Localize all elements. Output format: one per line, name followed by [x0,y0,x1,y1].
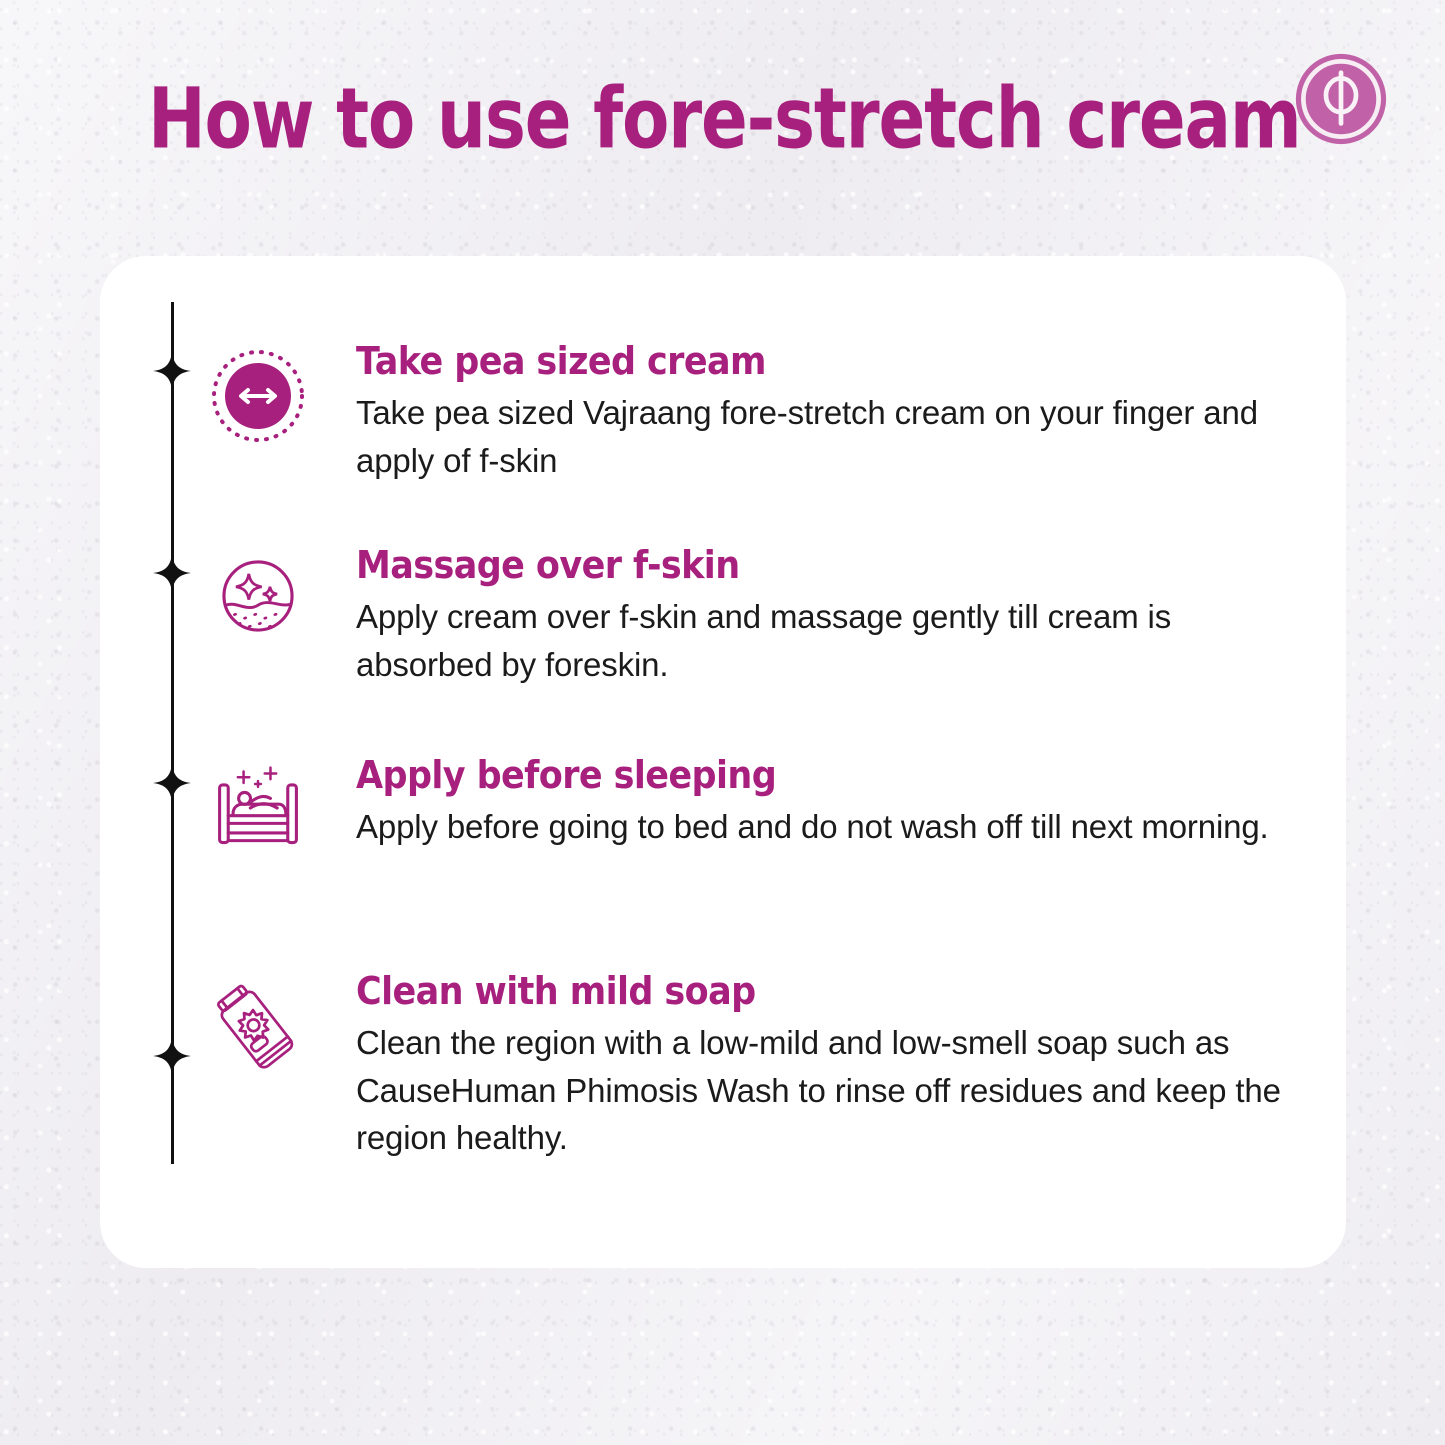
cream-tube-icon [208,972,308,1076]
massage-skin-sparkle-icon [208,546,308,650]
bed-sleeping-icon [208,756,308,860]
step-item: Take pea sized cream Take pea sized Vajr… [208,342,1316,484]
step-body: Take pea sized Vajraang fore-stretch cre… [356,389,1316,484]
step-item: Apply before sleeping Apply before going… [208,756,1316,860]
step-text: Massage over f-skin Apply cream over f-s… [308,546,1316,688]
step-body: Apply cream over f-skin and massage gent… [356,593,1316,688]
phi-logo [1294,52,1388,146]
page-title: How to use fore-stretch cream [148,78,1301,162]
step-text: Clean with mild soap Clean the region wi… [308,972,1316,1162]
step-item: Massage over f-skin Apply cream over f-s… [208,546,1316,688]
step-text: Take pea sized cream Take pea sized Vajr… [308,342,1316,484]
step-body: Apply before going to bed and do not was… [356,803,1316,851]
step-title: Apply before sleeping [356,756,1316,797]
step-item: Clean with mild soap Clean the region wi… [208,972,1316,1162]
step-title: Massage over f-skin [356,546,1316,587]
step-title: Clean with mild soap [356,972,1316,1013]
step-title: Take pea sized cream [356,342,1316,383]
steps-list: Take pea sized cream Take pea sized Vajr… [100,256,1346,1268]
steps-card: Take pea sized cream Take pea sized Vajr… [100,256,1346,1268]
pea-size-arrow-icon [208,342,308,446]
header: How to use fore-stretch cream [0,78,1445,188]
step-text: Apply before sleeping Apply before going… [308,756,1316,851]
step-body: Clean the region with a low-mild and low… [356,1019,1316,1162]
